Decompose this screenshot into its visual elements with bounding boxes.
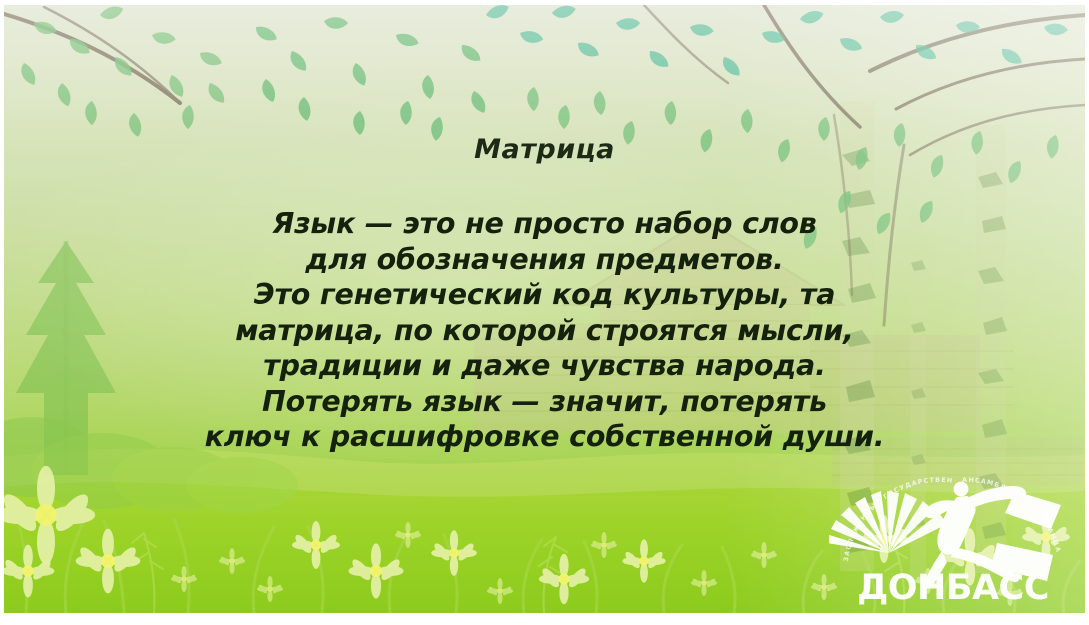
page-title: Матрица (4, 136, 1085, 163)
donbass-logo[interactable]: ЗАСЛУЖЕННЫЙ ГОСУДАРСТВЕННЫЙ АНСАМБЛЬ ПЕС… (829, 467, 1077, 609)
quote-text: Язык — это не просто набор слов для обоз… (4, 206, 1085, 455)
text-block: Матрица Язык — это не просто набор слов … (4, 5, 1085, 455)
quote-line: для обозначения предметов. (4, 242, 1085, 278)
logo-wordmark: ДОНБАСС (857, 568, 1049, 608)
quote-line: традиции и даже чувства народа. (4, 348, 1085, 384)
quote-line: Это генетический код культуры, та (4, 277, 1085, 313)
quote-line: ключ к расшифровке собственной души. (4, 419, 1085, 455)
quote-line: Потерять язык — значит, потерять (4, 384, 1085, 420)
quote-line: Язык — это не просто набор слов (4, 206, 1085, 242)
sunburst-rays (829, 491, 947, 553)
quote-line: матрица, по которой строятся мысли, (4, 313, 1085, 349)
quote-card: Матрица Язык — это не просто набор слов … (0, 0, 1089, 625)
scene-background: Матрица Язык — это не просто набор слов … (4, 5, 1085, 613)
